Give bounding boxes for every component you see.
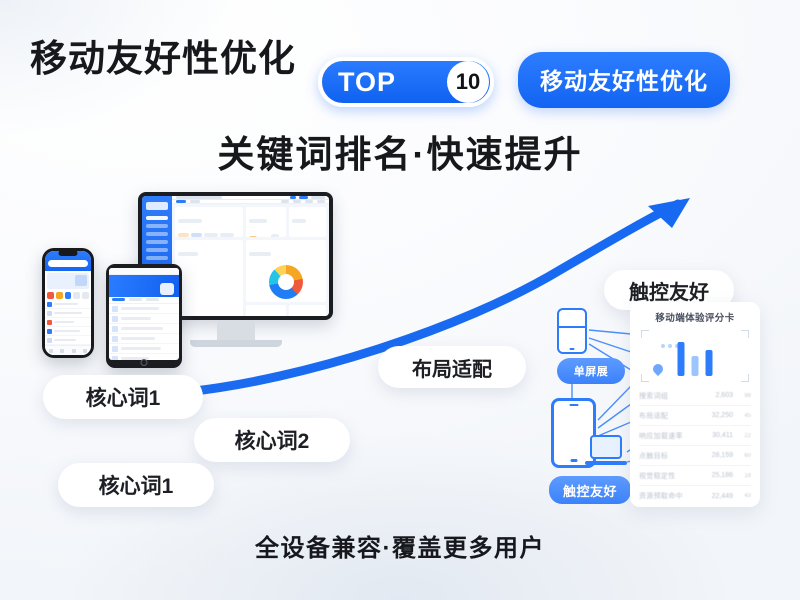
header-tag-pill: 移动友好性优化 — [518, 52, 730, 108]
tablet-banner — [109, 275, 179, 297]
list-item — [109, 334, 179, 344]
tablet-tabs — [109, 297, 179, 304]
list-item — [109, 304, 179, 314]
keyword-pill-3: 核心词1 — [58, 463, 214, 507]
table-row: 响应加载速率 30,411 22 — [639, 426, 751, 446]
scorecard-title: 移动端体验评分卡 — [639, 310, 751, 324]
scorecard-rows: 搜索词组 2,603 98 布局适配 32,250 45 响应加载速率 30,4… — [639, 386, 751, 506]
list-item — [45, 300, 91, 309]
scorecard-illustration — [641, 330, 749, 382]
table-row: 视觉稳定性 25,186 18 — [639, 466, 751, 486]
list-item — [45, 327, 91, 336]
location-pin-icon — [651, 362, 665, 376]
phone-search-bar — [48, 260, 88, 267]
top-badge-label: TOP — [338, 67, 396, 98]
dashboard-card-area-2 — [289, 305, 327, 316]
dashboard-card-filters — [175, 207, 243, 237]
monitor-stand-neck — [217, 320, 255, 340]
list-item — [45, 309, 91, 318]
keyword-pill-1: 核心词1 — [43, 375, 203, 419]
page-subtitle: 关键词排名·快速提升 — [217, 124, 582, 178]
list-item — [109, 314, 179, 324]
diagram-laptop-icon — [590, 435, 630, 470]
tablet-mockup — [106, 264, 182, 368]
device-mockup-group — [28, 192, 340, 392]
top-rank-badge: TOP 10 — [318, 57, 494, 107]
list-item — [109, 344, 179, 354]
list-item — [45, 336, 91, 345]
keyword-pill-2: 核心词2 — [194, 418, 350, 462]
table-row: 布局适配 32,250 45 — [639, 406, 751, 426]
tablet-home-button — [141, 359, 148, 366]
list-item — [109, 324, 179, 334]
donut-chart — [269, 265, 303, 299]
diagram-pill-single-screen: 单屏展 — [557, 358, 625, 384]
footer-tagline: 全设备兼容·覆盖更多用户 — [255, 528, 545, 563]
dashboard-card-linechart — [175, 240, 243, 316]
dashboard-card-action — [289, 207, 327, 237]
table-row: 搜索词组 2,603 98 — [639, 386, 751, 406]
phone-mockup — [42, 248, 94, 358]
dashboard-card-area-1 — [246, 305, 286, 316]
table-row: 点触目标 28,159 60 — [639, 446, 751, 466]
page-title: 移动友好性优化 — [30, 28, 296, 82]
diagram-small-phone-icon — [557, 308, 587, 354]
dashboard-card-stat — [246, 207, 286, 237]
callout-layout-adapt: 布局适配 — [378, 346, 526, 388]
phone-tabbar — [45, 345, 91, 355]
mobile-experience-scorecard: 移动端体验评分卡 搜索词组 2,603 98 布局 — [630, 302, 760, 507]
dashboard-card-donut — [246, 240, 327, 302]
phone-promo-card — [47, 273, 89, 289]
poster-canvas: 移动友好性优化 TOP 10 移动友好性优化 关键词排名·快速提升 — [0, 0, 800, 600]
phone-quick-icons — [45, 291, 91, 300]
list-item — [45, 318, 91, 327]
tablet-screen — [109, 268, 179, 360]
top-badge-number: 10 — [447, 61, 489, 103]
monitor-stand-foot — [190, 340, 282, 347]
table-row: 资源预取命中 22,449 43 — [639, 486, 751, 506]
scorecard-mini-bars — [678, 342, 713, 376]
phone-notch — [59, 250, 78, 256]
phone-screen — [45, 251, 91, 355]
device-network-diagram: 单屏展 触控友好 移动端体验评分卡 — [535, 300, 780, 515]
diagram-pill-touch-friendly: 触控友好 — [549, 476, 631, 504]
